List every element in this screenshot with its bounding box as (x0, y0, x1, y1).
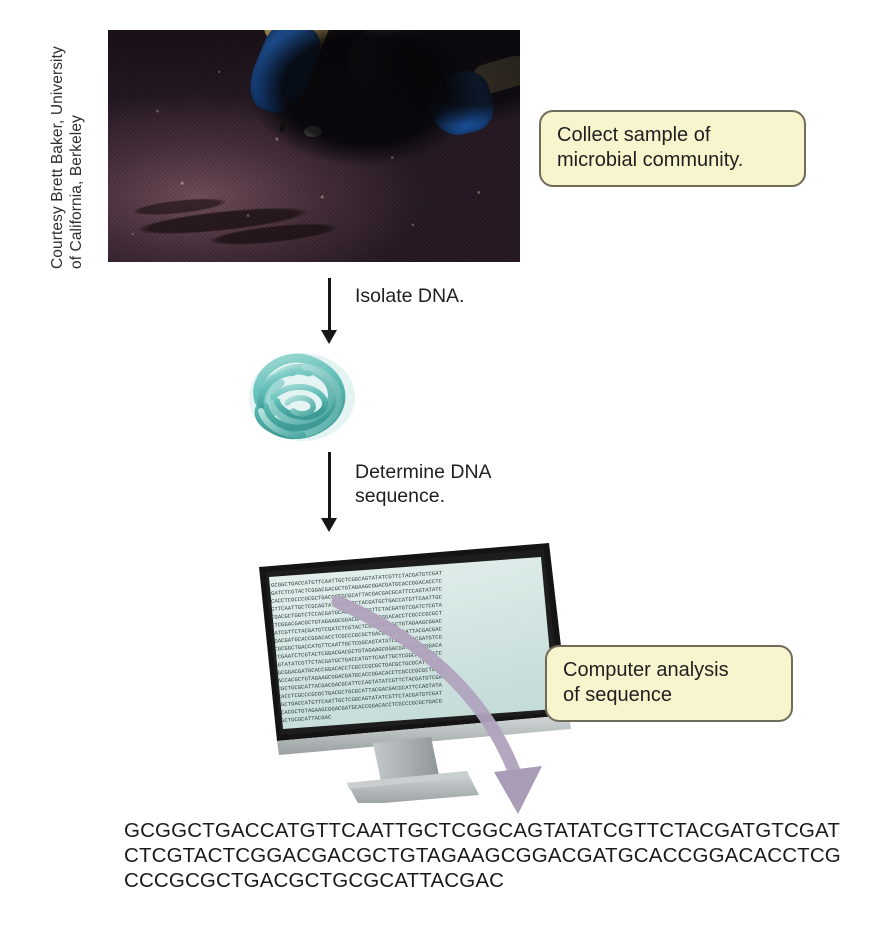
step-label-determine-sequence: Determine DNA sequence. (355, 460, 492, 508)
photo-credit: Courtesy Brett Baker, University of Cali… (48, 19, 86, 269)
arrow-head-sequence (321, 518, 337, 532)
callout-collect-sample: Collect sample of microbial community. (539, 110, 806, 187)
arrow-shaft-isolate (328, 278, 331, 332)
figure-canvas: Courtesy Brett Baker, University of Cali… (0, 0, 894, 940)
arrow-head-isolate (321, 330, 337, 344)
dna-tangle-icon (243, 345, 361, 445)
sequence-line: GCGGCTGACCATGTTCAATTGCTCGGCAGTATATCGTTCT… (124, 818, 844, 843)
field-sample-photo (108, 30, 520, 262)
curved-arrow-icon (330, 590, 590, 830)
sequence-line: CCCGCGCTGACGCTGCGCATTACGAC (124, 868, 844, 893)
output-dna-sequence: GCGGCTGACCATGTTCAATTGCTCGGCAGTATATCGTTCT… (124, 818, 844, 893)
sequence-line: CTCGTACTCGGACGACGCTGTAGAAGCGGACGATGCACCG… (124, 843, 844, 868)
arrow-shaft-sequence (328, 452, 331, 520)
photo-shadow-layer (108, 30, 520, 262)
step-label-isolate-dna: Isolate DNA. (355, 284, 464, 308)
